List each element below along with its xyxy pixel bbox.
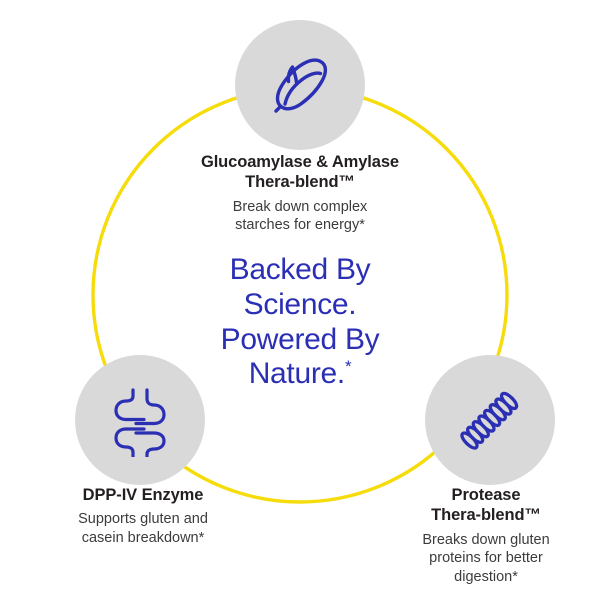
node-title-protease: Protease Thera-blend™: [372, 485, 600, 526]
node-desc-line1: Supports gluten and: [78, 511, 208, 527]
node-title-line1: Glucoamylase & Amylase: [201, 153, 399, 171]
tagline-line3: Powered By: [221, 323, 380, 356]
node-title-line1: Protease: [452, 486, 521, 504]
center-tagline: Backed By Science. Powered By Nature.*: [150, 253, 450, 392]
node-desc-glucoamylase: Break down complex starches for energy*: [140, 198, 460, 235]
node-title-glucoamylase: Glucoamylase & Amylase Thera-blend™: [140, 152, 460, 193]
tagline-line1: Backed By: [230, 253, 371, 286]
tagline-line2: Science.: [244, 288, 357, 321]
node-text-protease: Protease Thera-blend™ Breaks down gluten…: [372, 485, 600, 587]
node-text-dpp-iv: DPP-IV Enzyme Supports gluten and casein…: [18, 485, 268, 548]
corn-ear-icon: [263, 48, 337, 122]
node-circle-glucoamylase[interactable]: [235, 20, 365, 150]
node-desc-dpp-iv: Supports gluten and casein breakdown*: [18, 510, 268, 547]
node-title-dpp-iv: DPP-IV Enzyme: [18, 485, 268, 505]
tagline-asterisk: *: [345, 357, 351, 376]
node-desc-line2: casein breakdown*: [82, 530, 205, 546]
node-desc-protease: Breaks down gluten proteins for better d…: [372, 531, 600, 587]
node-title-line1: DPP-IV Enzyme: [83, 486, 204, 504]
node-title-line2: Thera-blend™: [431, 506, 541, 524]
node-title-line2: Thera-blend™: [245, 173, 355, 191]
node-text-glucoamylase: Glucoamylase & Amylase Thera-blend™ Brea…: [140, 152, 460, 235]
tagline-line4: Nature.: [249, 357, 345, 390]
dna-helix-icon: [451, 381, 529, 459]
node-desc-line1: Break down complex: [233, 199, 368, 215]
node-desc-line1: Breaks down gluten: [422, 532, 549, 548]
infographic-canvas: Glucoamylase & Amylase Thera-blend™ Brea…: [0, 0, 600, 600]
intestine-icon: [103, 383, 177, 457]
node-desc-line2: proteins for better: [429, 550, 543, 566]
node-desc-line3: digestion*: [454, 569, 518, 585]
node-desc-line2: starches for energy*: [235, 217, 365, 233]
